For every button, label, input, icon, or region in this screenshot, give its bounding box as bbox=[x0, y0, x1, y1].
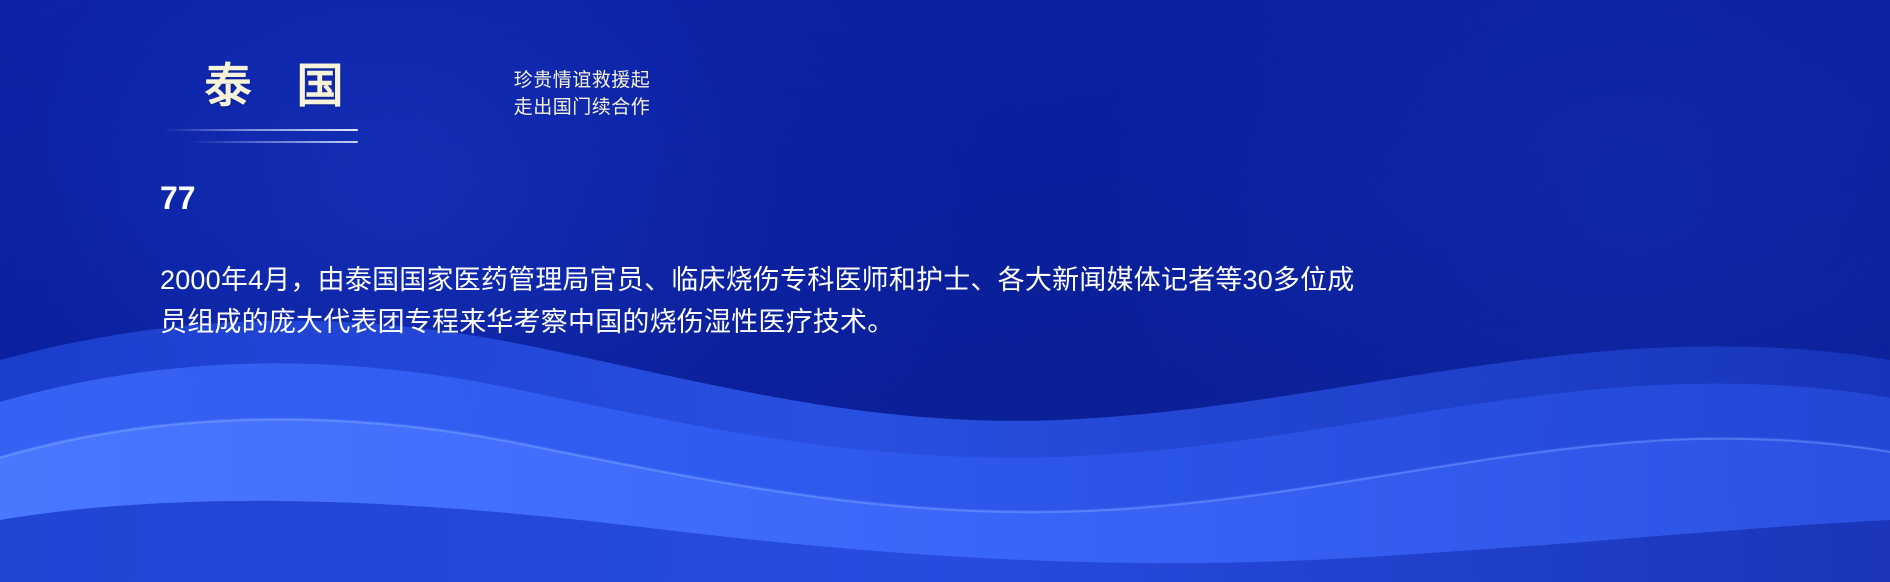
slide-header: 泰 国 珍贵情谊救援起 走出国门续合作 bbox=[0, 0, 1890, 180]
item-paragraph: 2000年4月，由泰国国家医药管理局官员、临床烧伤专科医师和护士、各大新闻媒体记… bbox=[160, 260, 1360, 344]
country-title: 泰 国 bbox=[162, 58, 402, 113]
item-number: 77 bbox=[160, 182, 1580, 214]
subtitle-block: 珍贵情谊救援起 走出国门续合作 bbox=[492, 68, 672, 122]
slide-content: 77 2000年4月，由泰国国家医药管理局官员、临床烧伤专科医师和护士、各大新闻… bbox=[160, 182, 1580, 344]
title-underline-secondary bbox=[190, 141, 358, 143]
subtitle-line-2: 走出国门续合作 bbox=[492, 95, 672, 122]
country-title-block: 泰 国 bbox=[162, 58, 402, 147]
title-underline-group bbox=[162, 123, 402, 147]
title-underline-primary bbox=[162, 129, 358, 131]
subtitle-line-1: 珍贵情谊救援起 bbox=[492, 68, 672, 95]
slide-canvas: 泰 国 珍贵情谊救援起 走出国门续合作 77 2000年4月，由泰国国家医药管理… bbox=[0, 0, 1890, 582]
